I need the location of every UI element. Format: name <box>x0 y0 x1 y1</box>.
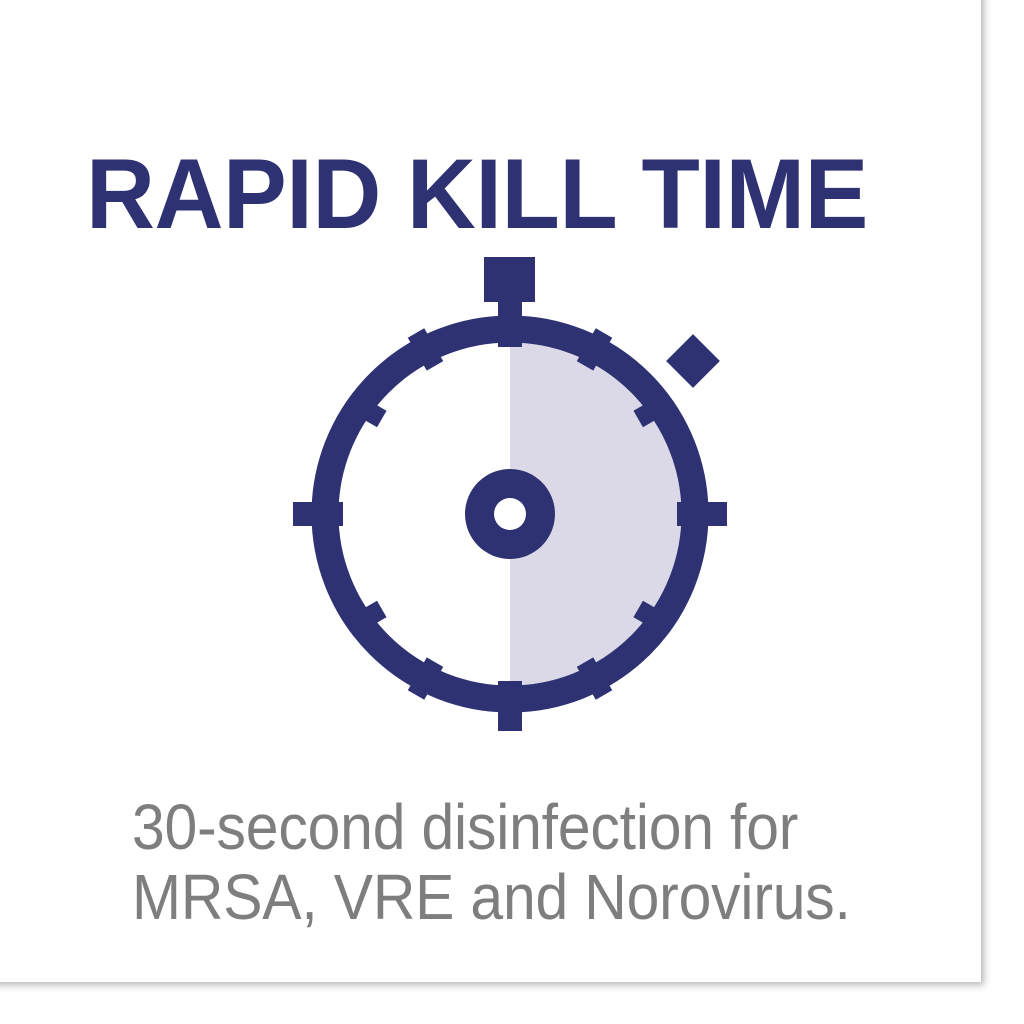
center-hub <box>465 469 555 559</box>
stopwatch-illustration <box>280 235 750 735</box>
tick-9 <box>293 502 343 526</box>
hub-hole <box>494 498 526 530</box>
tick-6 <box>498 681 522 731</box>
stopwatch-icon <box>280 235 750 735</box>
subtitle: 30-second disinfection for MRSA, VRE and… <box>132 792 868 932</box>
subtitle-line-2: MRSA, VRE and Norovirus. <box>132 862 868 932</box>
tick-3 <box>677 502 727 526</box>
poster-canvas: RAPID KILL TIME <box>0 0 1024 1024</box>
subtitle-line-1: 30-second disinfection for <box>132 792 868 862</box>
side-button <box>666 334 720 388</box>
tick-12 <box>498 297 522 347</box>
crown-button <box>484 257 535 302</box>
